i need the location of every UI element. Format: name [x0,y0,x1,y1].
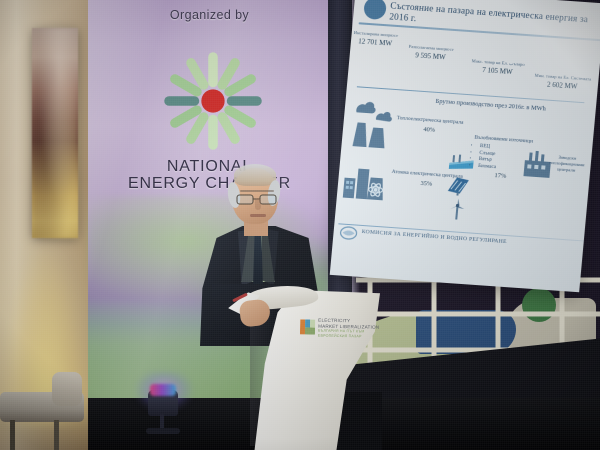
metric-available-capacity: Разполагаема мощност 9 595 MW [408,44,454,62]
screen-glare [506,0,600,115]
armchair-leg [10,420,15,450]
source-percent: 40% [391,124,467,136]
thermal-plant-label: Топлоелектрическа централа 40% [391,115,468,136]
organization-name: NATIONAL ENERGY CHAMBER [88,158,331,192]
speaker-nose [255,198,261,210]
wind-turbine-icon [445,197,469,220]
org-name-line-2: ENERGY CHAMBER [88,175,331,192]
wall-artwork-texture [32,28,78,238]
armchair-leg [54,420,59,450]
kevr-logo-icon [339,225,358,240]
nuclear-plant-icon [343,164,388,201]
logo-text-block: ELECTRICITY MARKET LIBERALIZATION БЪЛГАР… [318,318,376,339]
stage-light-base [146,428,180,434]
logo-line-4: ЕВРОПЕЙСКИЯ ПАЗАР [318,333,376,339]
speaker-mouth [250,214,266,217]
renewables-heading: Възобновяеми източници [468,134,538,146]
solar-panel-icon [445,175,471,197]
other-plants-label: Заводски топлофикационни централи [540,153,594,175]
logo-swatch-icon [300,319,315,334]
slide-bullet-dot-icon [363,0,387,20]
armchair-armrest [52,372,82,406]
stage-light-lens [150,384,176,396]
metric-installed-capacity: Инсталирана мощност 12 701 MW [353,30,399,48]
electricity-market-liberalization-logo: ELECTRICITY MARKET LIBERALIZATION БЪЛГАР… [300,317,376,346]
speaker-hair [234,164,276,186]
organized-by-label: Organized by [88,8,331,22]
national-energy-chamber-pinwheel-logo [160,48,266,154]
slide-content: Състояние на пазара на електрическа енер… [330,0,600,292]
metric-value: 12 701 MW [353,37,398,48]
projection-screen: Състояние на пазара на електрическа енер… [330,0,600,292]
conference-stage-photo: Organized by [0,0,600,450]
